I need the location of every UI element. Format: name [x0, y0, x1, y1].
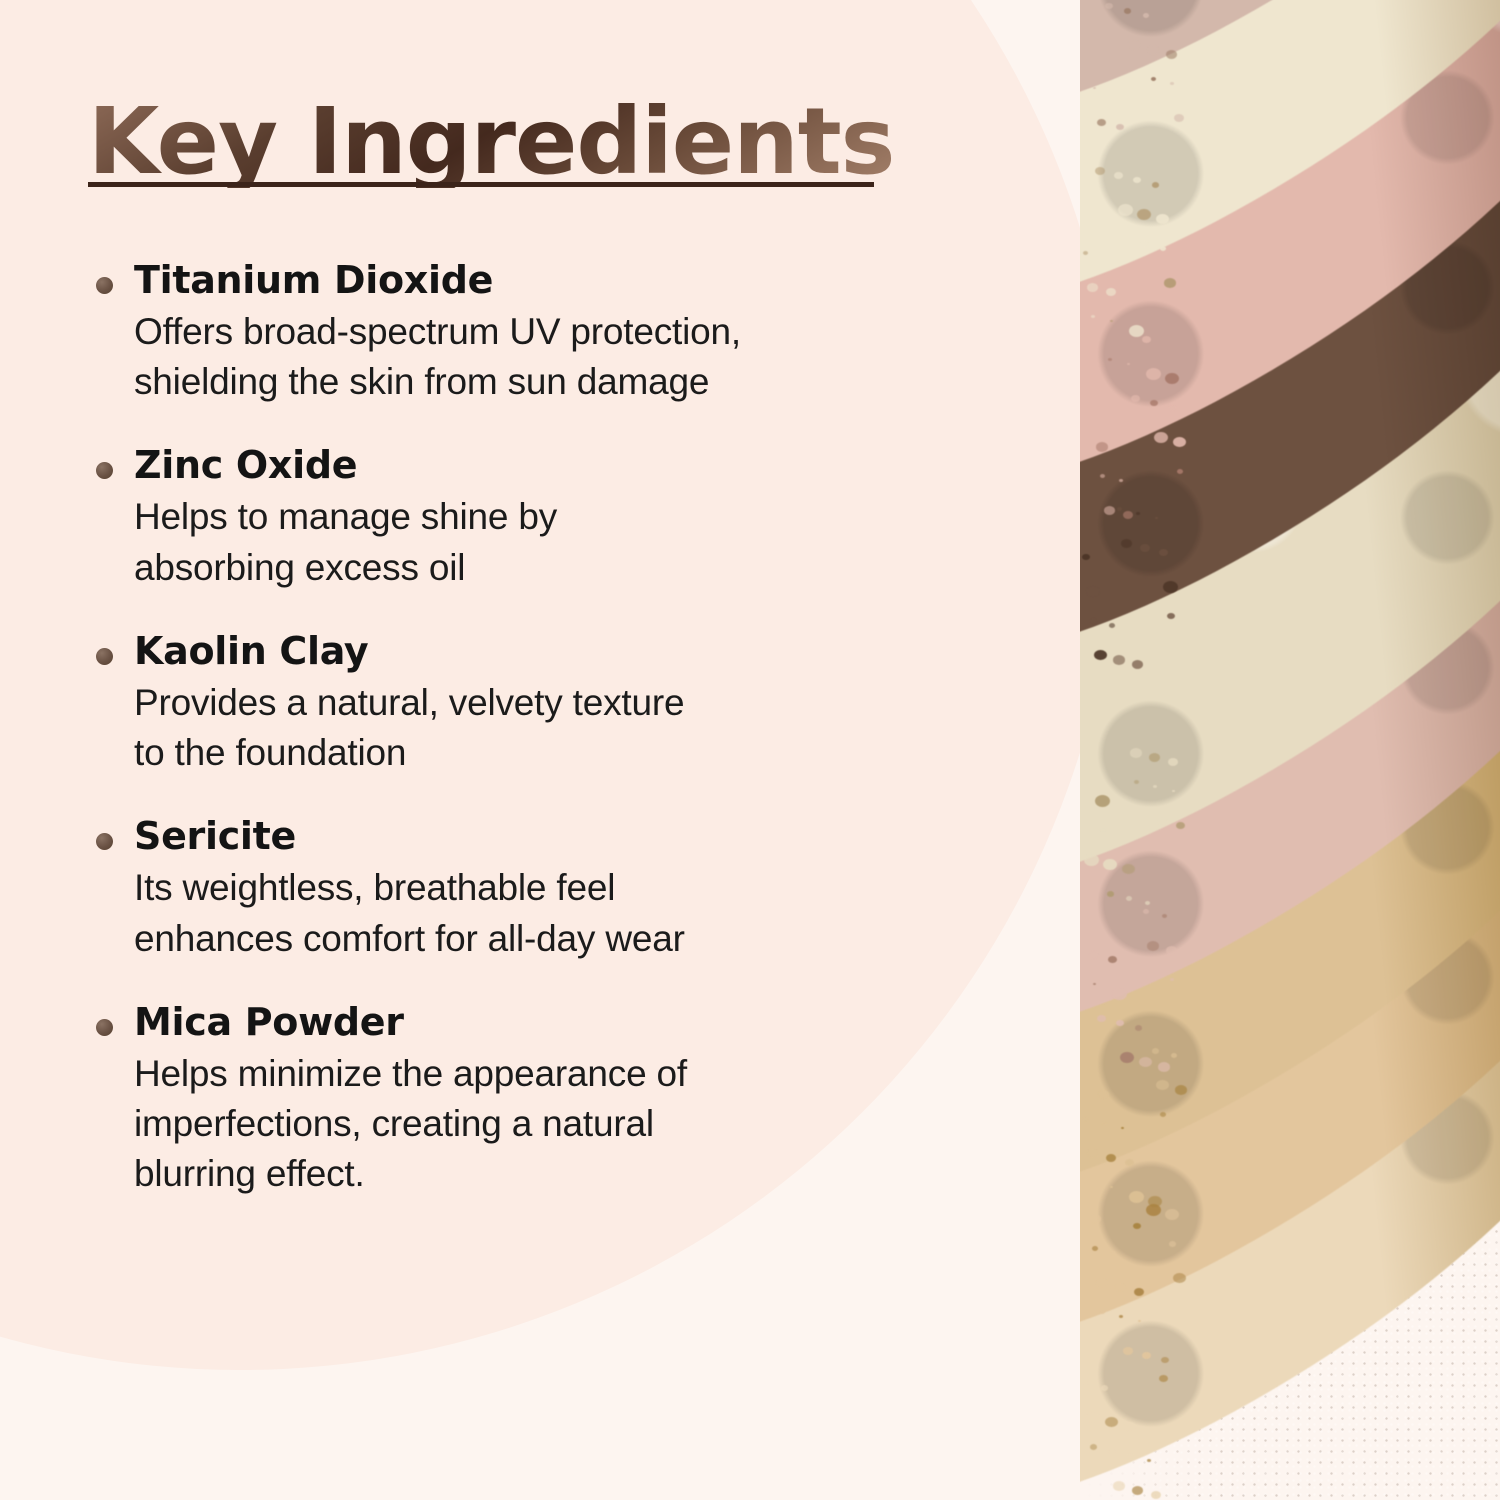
powder-crumb	[1168, 758, 1178, 766]
bullet-icon	[96, 648, 113, 665]
powder-crumb	[1126, 896, 1132, 901]
powder-crumb	[1095, 795, 1110, 807]
powder-crumb	[1100, 1310, 1105, 1314]
powder-crumb	[1129, 325, 1144, 337]
powder-crumb	[1083, 251, 1088, 255]
bullet-icon	[96, 462, 113, 479]
powder-crumb	[1115, 1283, 1126, 1292]
powder-crumb	[1096, 1278, 1108, 1288]
ingredient-description-line: blurring effect.	[134, 1149, 988, 1199]
powder-crumb	[1107, 891, 1114, 897]
page-title: Key Ingredients	[88, 96, 894, 188]
powder-crumb	[1092, 1246, 1098, 1251]
ingredient-description: Helps to manage shine byabsorbing excess…	[134, 492, 988, 593]
ingredient-name: Zinc Oxide	[134, 443, 988, 488]
powder-crumb	[1152, 182, 1159, 188]
powder-crumb	[1098, 1090, 1109, 1099]
ingredient-item: Mica PowderHelps minimize the appearance…	[88, 1000, 988, 1200]
powder-crumb	[1147, 45, 1159, 55]
powder-crumb	[1166, 50, 1177, 59]
powder-crumb	[1157, 817, 1167, 825]
powder-crumb	[1132, 1486, 1143, 1495]
powder-crumb	[1104, 506, 1115, 515]
bullet-icon	[96, 277, 113, 294]
powder-crumb	[1151, 1491, 1161, 1499]
powder-crumb	[1169, 1241, 1176, 1247]
powder-crumb	[1106, 288, 1116, 296]
powder-crumb	[1090, 1444, 1097, 1450]
powder-crumb	[1160, 1112, 1166, 1117]
powder-crumb	[1162, 914, 1167, 918]
powder-crumb	[1084, 854, 1099, 866]
ingredient-description-line: Helps minimize the appearance of	[134, 1049, 988, 1099]
ingredient-description-line: Helps to manage shine by	[134, 492, 988, 542]
powder-crumb	[1106, 1154, 1116, 1162]
ingredient-description: Provides a natural, velvety textureto th…	[134, 678, 988, 779]
page-title-wrap: Key Ingredients	[88, 96, 894, 188]
text-column: Key Ingredients Titanium DioxideOffers b…	[0, 0, 1030, 1500]
powder-crumb	[1121, 539, 1132, 548]
powder-crumb	[1128, 1454, 1133, 1458]
powder-crumb	[1135, 1025, 1142, 1031]
ingredient-list: Titanium DioxideOffers broad-spectrum UV…	[88, 258, 988, 1200]
powder-crumb	[1140, 544, 1150, 552]
powder-crumb	[1145, 901, 1150, 905]
powder-crumb	[1143, 909, 1149, 914]
ingredient-item: Zinc OxideHelps to manage shine byabsorb…	[88, 443, 988, 592]
ingredient-name: Sericite	[134, 814, 988, 859]
powder-crumb	[1130, 748, 1142, 758]
powder-crumb	[1160, 246, 1166, 251]
powder-crumb	[1083, 1117, 1088, 1121]
powder-crumb	[1164, 278, 1176, 288]
powder-crumb	[1113, 655, 1125, 665]
ingredient-description-line: Provides a natural, velvety texture	[134, 678, 988, 728]
ingredient-name: Mica Powder	[134, 1000, 988, 1045]
powder-crumb	[1149, 753, 1160, 762]
powder-crumb	[1087, 1149, 1098, 1158]
powder-crumb	[1141, 241, 1148, 247]
powder-crumb	[1143, 13, 1149, 18]
powder-crumb	[1147, 941, 1159, 951]
powder-crumb	[1117, 507, 1122, 511]
bullet-icon	[96, 833, 113, 850]
ingredient-item: Titanium DioxideOffers broad-spectrum UV…	[88, 258, 988, 407]
powder-crumb	[1169, 405, 1176, 411]
ingredient-description-line: absorbing excess oil	[134, 543, 988, 593]
powder-crumb	[1124, 1422, 1136, 1432]
powder-crumb	[1096, 442, 1108, 452]
powder-crumb	[1100, 474, 1105, 478]
powder-crumb	[1151, 77, 1156, 81]
powder-crumb	[1158, 1062, 1170, 1072]
powder-crumb	[1166, 946, 1177, 955]
ingredient-description: Helps minimize the appearance ofimperfec…	[134, 1049, 988, 1200]
powder-crumb	[1123, 1347, 1133, 1355]
powder-crumb	[1111, 1251, 1116, 1255]
powder-crumb	[1171, 1053, 1177, 1058]
powder-crumb	[1129, 1191, 1144, 1203]
ingredient-description-line: to the foundation	[134, 728, 988, 778]
ingredient-description: Its weightless, breathable feelenhances …	[134, 863, 988, 964]
powder-crumb	[1152, 1048, 1159, 1054]
title-underline	[88, 182, 874, 187]
powder-crumb	[1087, 283, 1098, 292]
powder-crumb	[1089, 951, 1099, 959]
powder-crumb	[1112, 988, 1127, 1000]
powder-crumb	[1123, 511, 1133, 519]
powder-crumb	[1109, 1449, 1115, 1454]
powder-crumb	[1132, 660, 1143, 669]
ingredient-description-line: Offers broad-spectrum UV protection,	[134, 307, 988, 357]
powder-crumb	[1175, 1085, 1187, 1095]
bullet-icon	[96, 1019, 113, 1036]
powder-crumb	[1134, 780, 1139, 784]
ingredient-name: Titanium Dioxide	[134, 258, 988, 303]
ingredient-name: Kaolin Clay	[134, 629, 988, 674]
powder-crumb	[1090, 618, 1097, 624]
powder-crumb	[1174, 114, 1184, 122]
ingredient-item: SericiteIts weightless, breathable feele…	[88, 814, 988, 963]
powder-crumb	[1146, 368, 1161, 380]
powder-crumb	[1095, 167, 1105, 175]
ingredient-description-line: Its weightless, breathable feel	[134, 863, 988, 913]
ingredient-description-line: imperfections, creating a natural	[134, 1099, 988, 1149]
ingredient-description-line: shielding the skin from sun damage	[134, 357, 988, 407]
powder-crumb	[1118, 204, 1133, 216]
powder-crumb	[1113, 1481, 1125, 1491]
ingredient-item: Kaolin ClayProvides a natural, velvety t…	[88, 629, 988, 778]
powder-crumb	[1163, 581, 1178, 593]
powder-crumb	[1109, 623, 1115, 628]
ingredient-description-line: enhances comfort for all-day wear	[134, 914, 988, 964]
powder-crumb	[1101, 1385, 1108, 1391]
powder-crumb	[1124, 8, 1131, 14]
powder-swatch-image	[1080, 0, 1500, 1500]
powder-crumb	[1177, 469, 1183, 474]
powder-crumb	[1134, 1288, 1144, 1296]
infographic-canvas: Key Ingredients Titanium DioxideOffers b…	[0, 0, 1500, 1500]
ingredient-description: Offers broad-spectrum UV protection,shie…	[134, 307, 988, 408]
